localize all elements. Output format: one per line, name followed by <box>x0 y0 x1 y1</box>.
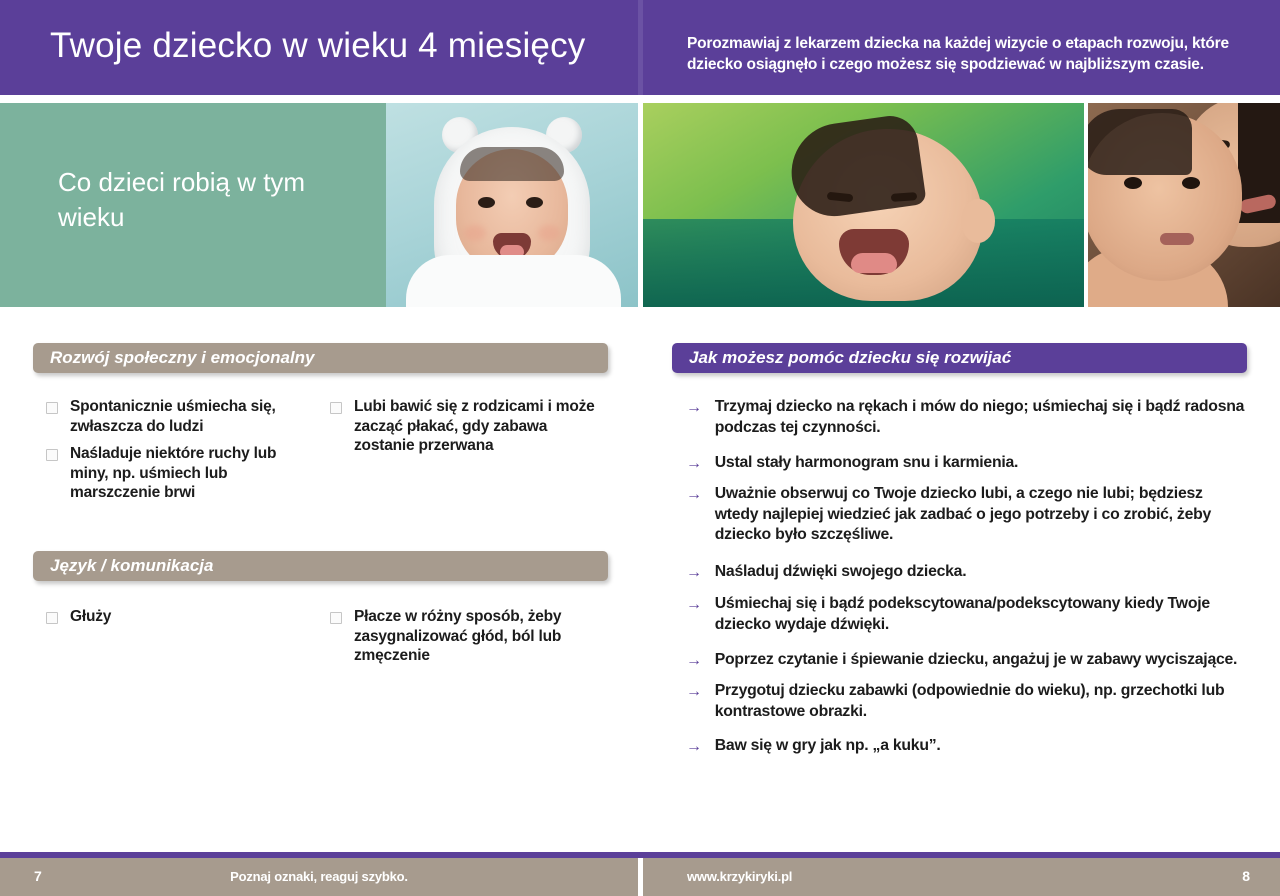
checklist-item[interactable]: Płacze w różny sposób, żeby zasygnalizow… <box>330 607 580 666</box>
checkbox-icon[interactable] <box>46 449 58 461</box>
photo1-body <box>406 255 621 307</box>
page-title: Twoje dziecko w wieku 4 miesięcy <box>50 26 585 66</box>
banner-title: Co dzieci robią w tym wieku <box>58 165 358 234</box>
checklist-item[interactable]: Naśladuje niektóre ruchy lub miny, np. u… <box>46 444 308 503</box>
checklist-item[interactable]: Spontanicznie uśmiecha się, zwłaszcza do… <box>46 397 301 436</box>
page-footer: 7 Poznaj oznaki, reaguj szybko. www.krzy… <box>0 858 1280 896</box>
section-header-social-emotional: Rozwój społeczny i emocjonalny <box>33 343 608 373</box>
photo3-baby-hair <box>1088 109 1192 175</box>
photo-baby-in-white-bear-hoodie <box>386 103 638 307</box>
checklist-item-label: Spontanicznie uśmiecha się, zwłaszcza do… <box>70 397 301 436</box>
arrow-right-icon: → <box>686 651 702 672</box>
tip-item-label: Naśladuj dźwięki swojego dziecka. <box>715 562 967 584</box>
photo2-ear <box>961 199 995 243</box>
tip-item: → Trzymaj dziecko na rękach i mów do nie… <box>686 397 1246 438</box>
checklist-item[interactable]: Głuży <box>46 607 296 627</box>
photo1-eye-left <box>478 197 495 208</box>
photo3-baby-eye-right <box>1182 177 1200 189</box>
arrow-right-icon: → <box>686 737 702 758</box>
photo3-baby-mouth <box>1160 233 1194 245</box>
page-header: Twoje dziecko w wieku 4 miesięcy Porozma… <box>0 0 1280 95</box>
tip-item-label: Poprzez czytanie i śpiewanie dziecku, an… <box>715 650 1237 672</box>
photo1-cheek-right <box>538 225 560 241</box>
header-advice-note: Porozmawiaj z lekarzem dziecka na każdej… <box>687 33 1257 76</box>
photo3-baby-eye-left <box>1124 177 1142 189</box>
photo1-hairline <box>460 147 564 181</box>
tip-item: → Uśmiechaj się i bądź podekscytowana/po… <box>686 594 1246 635</box>
footer-tagline: Poznaj oznaki, reaguj szybko. <box>0 869 638 884</box>
photo2-tongue <box>851 253 897 273</box>
tip-item-label: Trzymaj dziecko na rękach i mów do niego… <box>715 397 1246 438</box>
tip-item-label: Uśmiechaj się i bądź podekscytowana/pode… <box>715 594 1246 635</box>
tip-item-label: Przygotuj dziecku zabawki (odpowiednie d… <box>715 681 1246 722</box>
tip-item: → Przygotuj dziecku zabawki (odpowiednie… <box>686 681 1246 722</box>
checklist-item-label: Naśladuje niektóre ruchy lub miny, np. u… <box>70 444 308 503</box>
tip-item-label: Baw się w gry jak np. „a kuku”. <box>715 736 941 758</box>
checkbox-icon[interactable] <box>330 402 342 414</box>
photo-mother-holding-baby <box>1088 103 1280 307</box>
checkbox-icon[interactable] <box>46 612 58 624</box>
tip-item: → Uważnie obserwuj co Twoje dziecko lubi… <box>686 484 1246 546</box>
checklist-item-label: Płacze w różny sposób, żeby zasygnalizow… <box>354 607 580 666</box>
photo-baby-laughing-in-green-bath <box>643 103 1084 307</box>
section-header-language-communication: Język / komunikacja <box>33 551 608 581</box>
checkbox-icon[interactable] <box>330 612 342 624</box>
arrow-right-icon: → <box>686 563 702 584</box>
brochure-page: Twoje dziecko w wieku 4 miesięcy Porozma… <box>0 0 1280 896</box>
tip-item: → Naśladuj dźwięki swojego dziecka. <box>686 562 1246 584</box>
tip-item-label: Uważnie obserwuj co Twoje dziecko lubi, … <box>715 484 1246 546</box>
arrow-right-icon: → <box>686 595 702 635</box>
arrow-right-icon: → <box>686 454 702 475</box>
checklist-item-label: Głuży <box>70 607 111 627</box>
photo1-eye-right <box>526 197 543 208</box>
banner-strip: Co dzieci robią w tym wieku <box>0 103 1280 307</box>
tip-item: → Baw się w gry jak np. „a kuku”. <box>686 736 1246 758</box>
arrow-right-icon: → <box>686 682 702 722</box>
arrow-right-icon: → <box>686 485 702 546</box>
photo1-cheek-left <box>464 225 486 241</box>
page-number-right: 8 <box>1242 868 1250 884</box>
checklist-item[interactable]: Lubi bawić się z rodzicami i może zacząć… <box>330 397 598 456</box>
checklist-item-label: Lubi bawić się z rodzicami i może zacząć… <box>354 397 598 456</box>
arrow-right-icon: → <box>686 398 702 438</box>
footer-url[interactable]: www.krzykiryki.pl <box>687 869 792 884</box>
section-header-how-to-help: Jak możesz pomóc dziecku się rozwijać <box>672 343 1247 373</box>
tip-item: → Poprzez czytanie i śpiewanie dziecku, … <box>686 650 1246 672</box>
tip-item-label: Ustal stały harmonogram snu i karmienia. <box>715 453 1018 475</box>
checkbox-icon[interactable] <box>46 402 58 414</box>
tip-item: → Ustal stały harmonogram snu i karmieni… <box>686 453 1246 475</box>
